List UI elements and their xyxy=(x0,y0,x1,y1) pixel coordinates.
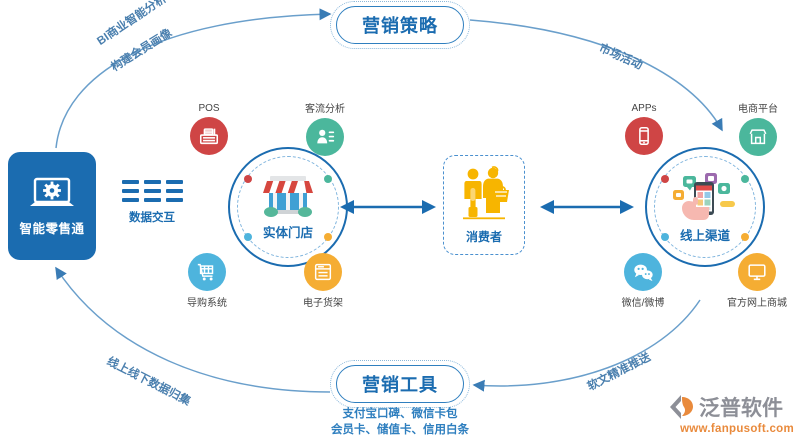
data-exchange-bars xyxy=(112,180,192,202)
subtitle-line-1: 支付宝口碑、微信卡包 xyxy=(300,406,500,422)
pill-marketing-strategy[interactable]: 营销策略 xyxy=(336,6,464,44)
cluster-online-channel[interactable]: 线上渠道 xyxy=(645,147,765,267)
cluster-label: 实体门店 xyxy=(263,222,313,241)
pill-marketing-tools[interactable]: 营销工具 xyxy=(336,365,464,403)
subtitle-line-2: 会员卡、储值卡、信用白条 xyxy=(300,422,500,438)
shoppers-icon xyxy=(457,166,511,224)
satellite-label: 客流分析 xyxy=(294,100,356,115)
satellite-label: POS xyxy=(178,103,240,114)
satellite-label: 官方网上商城 xyxy=(726,294,788,309)
satellite-label: 微信/微博 xyxy=(612,294,674,309)
satellite-official-mall[interactable]: 官方网上商城 xyxy=(726,253,788,309)
e-shelf-icon xyxy=(304,253,342,291)
arc-label-data-collection: 线上线下数据归集 xyxy=(104,353,193,409)
chat-bubbles-icon xyxy=(624,253,662,291)
desktop-shop-icon xyxy=(738,253,776,291)
online-shop-icon xyxy=(739,118,777,156)
arc-label-market-activity: 市场活动 xyxy=(597,40,646,73)
people-analytics-icon xyxy=(306,118,344,156)
logo-row: 泛普软件 xyxy=(668,392,794,422)
bar xyxy=(166,189,183,193)
marketing-tools-subtitle: 支付宝口碑、微信卡包 会员卡、储值卡、信用白条 xyxy=(300,406,500,438)
bar xyxy=(122,180,139,184)
cash-register-icon xyxy=(190,117,228,155)
hand-phone-icon xyxy=(669,171,741,223)
cluster-center: 线上渠道 xyxy=(645,147,765,267)
shopping-cart-icon xyxy=(188,253,226,291)
bar xyxy=(144,189,161,193)
cluster-center: 实体门店 xyxy=(228,147,348,267)
bar xyxy=(144,180,161,184)
cluster-label: 线上渠道 xyxy=(680,225,730,244)
bar xyxy=(122,198,139,202)
pill-label: 营销策略 xyxy=(362,12,438,38)
satellite-label: 电子货架 xyxy=(292,294,354,309)
cluster-offline-store[interactable]: 实体门店 xyxy=(228,147,348,267)
satellite-label: 电商平台 xyxy=(727,100,789,115)
main-node-smart-retail[interactable]: 智能零售通 xyxy=(8,152,96,260)
pill-label: 营销工具 xyxy=(362,371,438,397)
satellite-label: 导购系统 xyxy=(176,294,238,309)
arrow-store-consumer xyxy=(340,200,436,214)
consumer-label: 消费者 xyxy=(466,228,502,245)
bar xyxy=(144,198,161,202)
company-logo: 泛普软件 www.fanpusoft.com xyxy=(668,392,794,435)
mobile-phone-icon xyxy=(625,117,663,155)
satellite-pos[interactable]: POS xyxy=(178,103,240,155)
arrow-consumer-online xyxy=(540,200,634,214)
bar xyxy=(166,198,183,202)
arc-label-content-push: 软文精准推送 xyxy=(584,349,653,395)
bar xyxy=(166,180,183,184)
logo-url: www.fanpusoft.com xyxy=(668,423,794,435)
data-exchange-node: 数据交互 xyxy=(112,180,192,225)
fanpu-mark-icon xyxy=(668,394,696,420)
satellite-wechat-weibo[interactable]: 微信/微博 xyxy=(612,253,674,309)
satellite-guide-system[interactable]: 导购系统 xyxy=(176,253,238,309)
main-node-label: 智能零售通 xyxy=(19,218,84,237)
consumer-node[interactable]: 消费者 xyxy=(443,155,525,255)
storefront-icon xyxy=(260,174,316,220)
bar-row xyxy=(122,189,183,193)
bar xyxy=(122,189,139,193)
data-exchange-label: 数据交互 xyxy=(112,209,192,225)
bar-row xyxy=(122,198,183,202)
diagram-canvas: 智能零售通 数据交互 xyxy=(0,0,800,445)
logo-name: 泛普软件 xyxy=(699,392,783,422)
satellite-label: APPs xyxy=(613,103,675,114)
satellite-e-shelf[interactable]: 电子货架 xyxy=(292,253,354,309)
satellite-ecommerce[interactable]: 电商平台 xyxy=(727,100,789,156)
satellite-apps[interactable]: APPs xyxy=(613,103,675,155)
satellite-traffic-analysis[interactable]: 客流分析 xyxy=(294,100,356,156)
bar-row xyxy=(122,180,183,184)
laptop-gear-icon xyxy=(28,176,76,214)
